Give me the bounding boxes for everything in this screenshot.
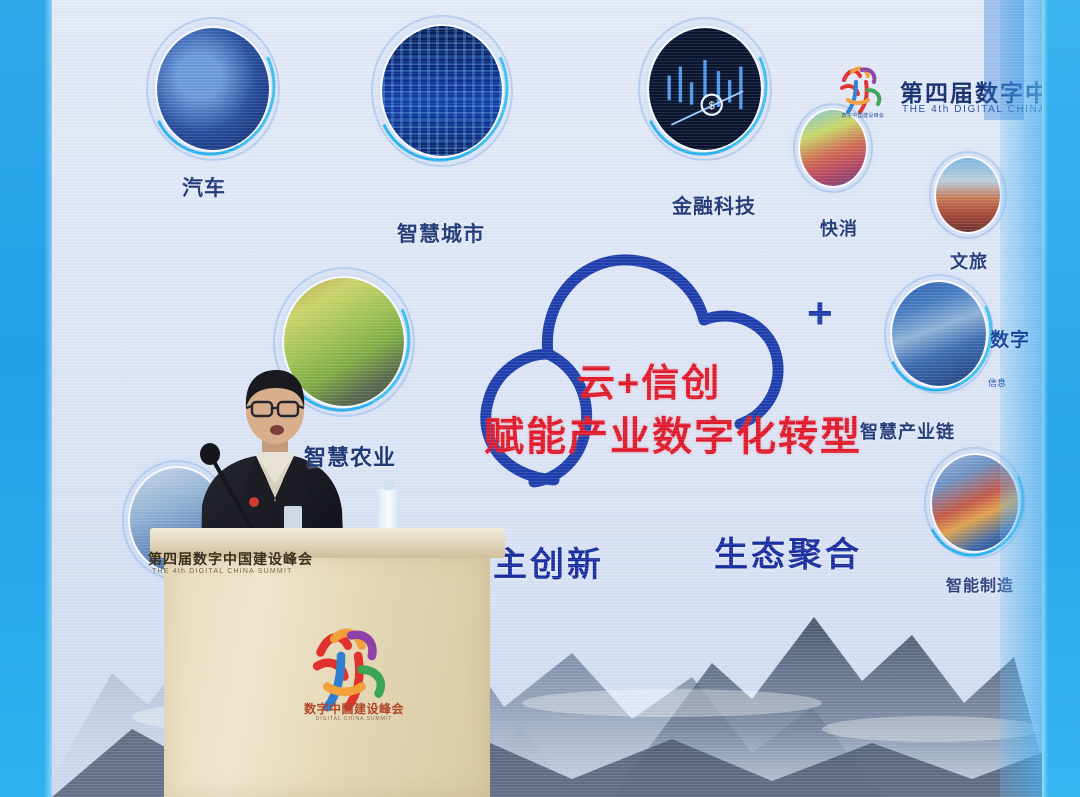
podium-emblem-caption-cn: 数字中国建设峰会 (296, 700, 412, 717)
bubble-label-culture-tourism: 文旅 (950, 248, 988, 274)
podium-emblem-caption-en: DIGITAL CHINA SUMMIT (296, 716, 412, 722)
bubble-label-smart-city: 智慧城市 (397, 218, 485, 248)
podium-title-cn: 第四届数字中国建设峰会 (148, 549, 313, 569)
bubble-industry-chain[interactable] (892, 282, 986, 386)
slide-headline-line2: 赋能产业数字化转型 (484, 404, 862, 462)
summit-emblem-caption: 数字中国建设峰会 (834, 112, 892, 119)
bubble-label-fmcg: 快消 (820, 215, 858, 241)
bubble-label-smart-agriculture: 智慧农业 (304, 440, 396, 472)
podium-title-en: THE 4th DIGITAL CHINA SUMMIT (152, 568, 293, 575)
side-poster-text: 数字 (990, 330, 1034, 352)
screenshot-stage: + 汽车 智慧城市 (0, 0, 1080, 797)
bubble-smart-city[interactable] (382, 26, 502, 156)
side-poster-panel (984, 0, 1024, 120)
slide-headline-line1: 云+信创 (577, 352, 721, 407)
bubble-label-industry-chain: 智慧产业链 (860, 418, 955, 444)
wall-panel-left (0, 0, 52, 797)
bubble-label-fintech: 金融科技 (672, 190, 756, 219)
bubble-car[interactable] (157, 28, 269, 150)
bubble-label-car: 汽车 (182, 172, 226, 202)
pillar-right-label: 生态聚合 (714, 527, 862, 576)
cloud-plus-sign: + (807, 292, 833, 336)
bubble-fintech[interactable]: $ (649, 28, 761, 150)
wall-panel-right (1042, 0, 1080, 797)
side-poster-subtext: 信息 (988, 378, 1034, 389)
bubble-culture-tourism[interactable] (936, 158, 1000, 232)
